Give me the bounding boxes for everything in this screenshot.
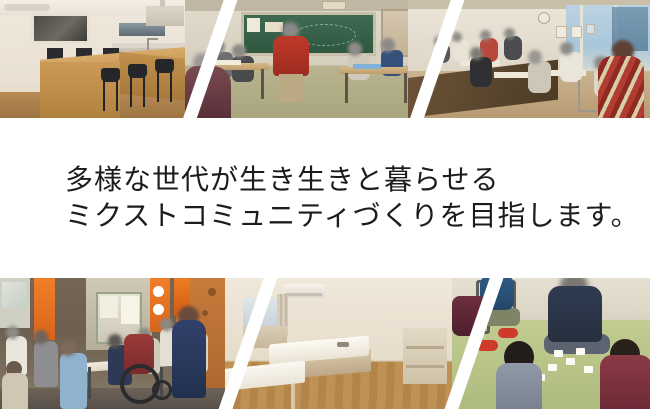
wooden-shelf-unit bbox=[403, 328, 447, 384]
seated-person bbox=[528, 50, 551, 93]
tagline-band: 多様な世代が生き生きと暮らせる ミクストコミュニティづくりを目指します。 bbox=[0, 118, 650, 278]
notice-poster bbox=[100, 296, 118, 318]
seated-person bbox=[470, 47, 492, 87]
playing-card bbox=[576, 348, 585, 355]
seated-person bbox=[452, 32, 469, 61]
wall-notice bbox=[571, 26, 582, 38]
tagline-line-2: ミクストコミュニティづくりを目指します。 bbox=[0, 198, 650, 234]
standing-person-red-jacket bbox=[273, 22, 309, 92]
seated-person bbox=[348, 42, 370, 80]
playing-card bbox=[584, 366, 593, 373]
seated-person bbox=[560, 42, 582, 82]
seated-child bbox=[2, 373, 28, 409]
wall-frame bbox=[322, 1, 346, 10]
foreground-person-floral-shirt bbox=[598, 56, 644, 118]
seated-person bbox=[504, 28, 522, 60]
desk-papers bbox=[353, 64, 381, 69]
desk-papers bbox=[215, 60, 241, 65]
desk-leg bbox=[404, 73, 407, 103]
table-leg bbox=[291, 381, 295, 409]
wall-ornament bbox=[208, 288, 216, 296]
desk-leg bbox=[345, 73, 348, 103]
area-map bbox=[2, 282, 27, 308]
red-shoe bbox=[498, 328, 518, 338]
table-leg bbox=[88, 367, 91, 399]
banner-emblem bbox=[153, 286, 164, 297]
remote-control bbox=[337, 342, 349, 347]
photo-strip-top bbox=[0, 0, 650, 118]
event-attendee bbox=[34, 330, 58, 387]
bar-stool bbox=[155, 59, 174, 103]
bar-stool bbox=[101, 68, 120, 112]
community-event-scene bbox=[0, 278, 242, 409]
kneeling-adult bbox=[548, 286, 602, 342]
board-poster bbox=[247, 18, 260, 32]
tagline-line-1: 多様な世代が生き生きと暮らせる bbox=[0, 162, 650, 198]
interior-window bbox=[31, 13, 90, 44]
range-hood bbox=[146, 6, 184, 26]
photo-outdoor-community-event bbox=[0, 278, 242, 409]
photo-strip-bottom bbox=[0, 278, 650, 409]
playing-card bbox=[548, 364, 557, 371]
bar-stool bbox=[128, 64, 147, 108]
playing-card bbox=[554, 350, 563, 357]
wall-ornament bbox=[202, 310, 208, 316]
playing-card bbox=[566, 358, 575, 365]
desk-leg bbox=[261, 69, 264, 99]
child-foreground-left bbox=[496, 363, 542, 409]
wheelchair-caster bbox=[152, 380, 172, 400]
wall-notice bbox=[586, 24, 595, 34]
wall-clock bbox=[538, 12, 550, 24]
foreground-person-navy-jacket bbox=[172, 320, 206, 398]
child-foreground-right bbox=[600, 355, 650, 409]
air-conditioner bbox=[283, 284, 325, 298]
notice-poster bbox=[121, 296, 139, 324]
ceiling-duct bbox=[4, 4, 50, 11]
wall-notice bbox=[556, 26, 567, 38]
promotional-banner: 多様な世代が生き生きと暮らせる ミクストコミュニティづくりを目指します。 bbox=[0, 0, 650, 409]
banner-emblem bbox=[153, 304, 164, 315]
faucet bbox=[147, 38, 149, 50]
child-attendee bbox=[60, 340, 87, 409]
